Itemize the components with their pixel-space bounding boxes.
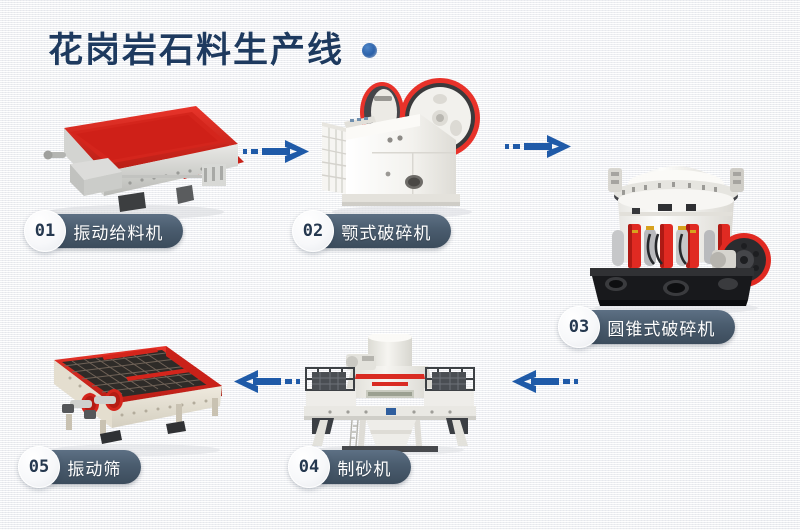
step-badge-03: 03: [558, 306, 600, 348]
step-badge-04: 04: [288, 446, 330, 488]
step-tag-05[interactable]: › 振动筛: [50, 450, 141, 484]
bullet-dot-icon: [362, 43, 377, 58]
machine-image-vibrating-screen: [26, 342, 236, 460]
machine-image-vibrating-feeder: [26, 92, 246, 222]
machine-image-jaw-crusher: [316, 66, 488, 221]
page-title-text: 花岗岩石料生产线: [48, 22, 344, 73]
step-label-03[interactable]: 03 › 圆锥式破碎机: [558, 306, 735, 348]
step-badge-01: 01: [24, 210, 66, 252]
step-tag-02[interactable]: › 颚式破碎机: [324, 214, 451, 248]
step-label-01[interactable]: 01 › 振动给料机: [24, 210, 183, 252]
step-tag-04[interactable]: › 制砂机: [320, 450, 411, 484]
arrow-3-to-4-icon: [510, 368, 578, 396]
arrow-2-to-3-icon: [505, 133, 573, 161]
arrow-1-to-2-icon: [243, 138, 311, 166]
step-label-text-05: 振动筛: [67, 455, 121, 480]
step-badge-05: 05: [18, 446, 60, 488]
step-tag-01[interactable]: › 振动给料机: [56, 214, 183, 248]
machine-image-cone-crusher: [572, 142, 780, 317]
step-label-05[interactable]: 05 › 振动筛: [18, 446, 141, 488]
step-label-text-03: 圆锥式破碎机: [607, 315, 715, 340]
step-label-text-01: 振动给料机: [73, 219, 163, 244]
step-label-text-02: 颚式破碎机: [341, 219, 431, 244]
machine-image-sand-making-machine: [290, 334, 490, 456]
step-label-text-04: 制砂机: [337, 455, 391, 480]
step-label-04[interactable]: 04 › 制砂机: [288, 446, 411, 488]
arrow-4-to-5-icon: [232, 368, 300, 396]
step-badge-02: 02: [292, 210, 334, 252]
step-tag-03[interactable]: › 圆锥式破碎机: [590, 310, 735, 344]
step-label-02[interactable]: 02 › 颚式破碎机: [292, 210, 451, 252]
flowchart-canvas: 花岗岩石料生产线: [0, 0, 800, 530]
